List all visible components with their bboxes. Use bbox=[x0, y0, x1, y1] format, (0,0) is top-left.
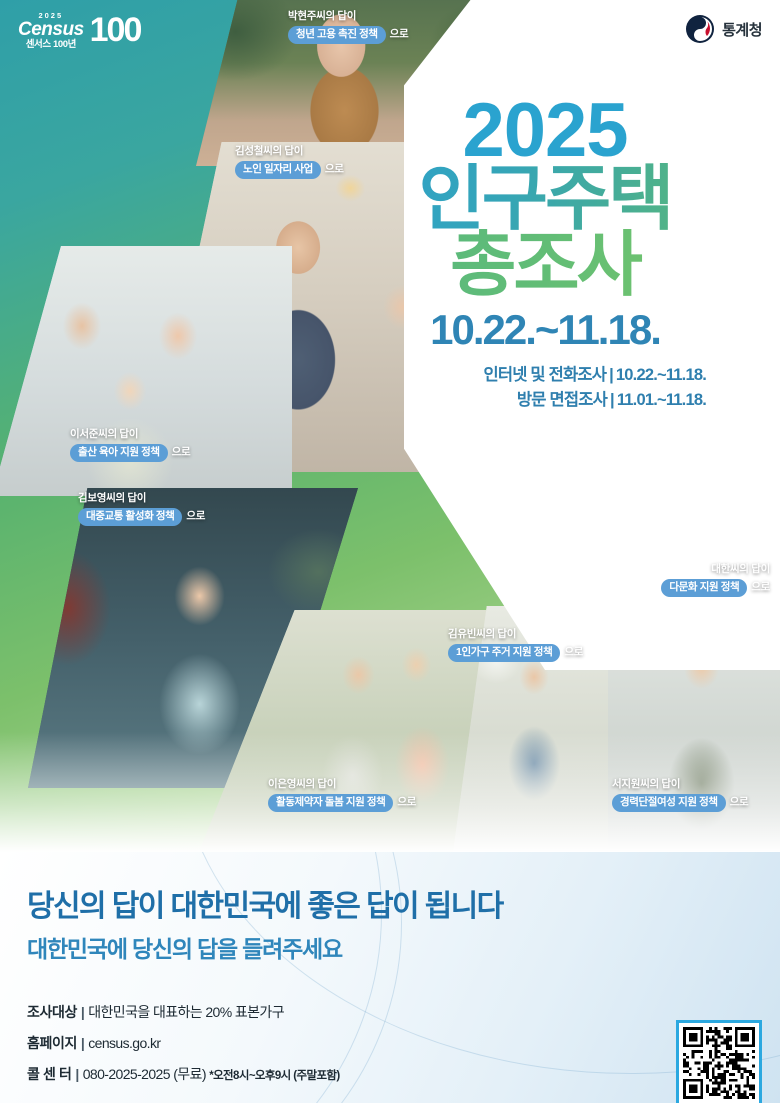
policy-pill: 경력단절여성 지원 정책 bbox=[612, 794, 726, 812]
info-label: 콜 센 터 bbox=[27, 1066, 71, 1082]
info-row-target: 조사대상|대한민국을 대표하는 20% 표본가구 bbox=[27, 1002, 340, 1022]
policy-pill: 청년 고용 촉진 정책 bbox=[288, 26, 386, 44]
policy-suffix: 으로 bbox=[390, 28, 409, 41]
caption-seo-jiwon: 서지원씨의 답이 경력단절여성 지원 정책으로 bbox=[612, 778, 748, 812]
caption-policy-line: 노인 일자리 사업으로 bbox=[235, 161, 344, 179]
info-value-homepage-link[interactable]: census.go.kr bbox=[88, 1035, 160, 1051]
census-logo-word: Census bbox=[18, 20, 84, 39]
method-label: 방문 면접조사 bbox=[517, 391, 607, 409]
caption-policy-line: 활동제약자 돌봄 지원 정책으로 bbox=[268, 794, 416, 812]
caption-kim-sungchul: 김성철씨의 답이 노인 일자리 사업으로 bbox=[235, 145, 344, 179]
caption-kim-yubin: 김유빈씨의 답이 1인가구 주거 지원 정책으로 bbox=[448, 628, 583, 662]
info-label: 홈페이지 bbox=[27, 1035, 77, 1051]
info-row-homepage: 홈페이지|census.go.kr bbox=[27, 1033, 340, 1053]
policy-suffix: 으로 bbox=[751, 581, 770, 594]
poster-title-block: 2025 인구주택 총조사 10.22.~11.18. 인터넷 및 전화조사|1… bbox=[380, 95, 710, 413]
title-date-range: 10.22.~11.18. bbox=[380, 309, 710, 351]
survey-method-row: 방문 면접조사|11.01.~11.18. bbox=[380, 388, 706, 413]
census-100-icon: 100 bbox=[90, 16, 141, 45]
policy-pill: 1인가구 주거 지원 정책 bbox=[448, 644, 560, 662]
slogan-secondary: 대한민국에 당신의 답을 들려주세요 bbox=[27, 930, 342, 964]
info-separator: | bbox=[71, 1066, 82, 1082]
caption-person-name: 이은영씨의 답이 bbox=[268, 778, 416, 791]
info-row-callcenter: 콜 센 터|080-2025-2025 (무료) *오전8시~오후9시 (주말포… bbox=[27, 1064, 340, 1084]
method-period: 11.01.~11.18. bbox=[617, 391, 706, 409]
policy-suffix: 으로 bbox=[172, 446, 191, 459]
qr-code[interactable] bbox=[676, 1020, 762, 1103]
qr-code-canvas bbox=[683, 1027, 755, 1099]
policy-pill: 다문화 지원 정책 bbox=[661, 579, 747, 597]
info-separator: | bbox=[77, 1004, 88, 1020]
caption-person-name: 김유빈씨의 답이 bbox=[448, 628, 583, 641]
census-poster: 박현주씨의 답이 청년 고용 촉진 정책으로 김성철씨의 답이 노인 일자리 사… bbox=[0, 0, 780, 1103]
caption-person-name: 박현주씨의 답이 bbox=[288, 10, 408, 23]
method-separator: | bbox=[606, 366, 616, 384]
policy-pill: 대중교통 활성화 정책 bbox=[78, 508, 182, 526]
policy-pill: 활동제약자 돌봄 지원 정책 bbox=[268, 794, 393, 812]
caption-daehan: 대한씨의 답이 다문화 지원 정책으로 bbox=[661, 563, 770, 597]
slogan-primary: 당신의 답이 대한민국에 좋은 답이 됩니다 bbox=[27, 881, 503, 925]
caption-person-name: 이서준씨의 답이 bbox=[70, 428, 190, 441]
method-label: 인터넷 및 전화조사 bbox=[483, 366, 606, 384]
policy-suffix: 으로 bbox=[325, 163, 344, 176]
policy-suffix: 으로 bbox=[730, 796, 749, 809]
survey-method-row: 인터넷 및 전화조사|10.22.~11.18. bbox=[380, 363, 706, 388]
statistics-korea-logo: 통계청 bbox=[685, 14, 762, 44]
caption-policy-line: 다문화 지원 정책으로 bbox=[661, 579, 770, 597]
caption-kim-boyoung: 김보영씨의 답이 대중교통 활성화 정책으로 bbox=[78, 492, 205, 526]
census-100-logo: 2025 Census 센서스 100년 100 bbox=[18, 12, 140, 49]
caption-policy-line: 경력단절여성 지원 정책으로 bbox=[612, 794, 748, 812]
agency-name: 통계청 bbox=[722, 19, 762, 40]
caption-person-name: 대한씨의 답이 bbox=[661, 563, 770, 576]
census-logo-korean: 센서스 100년 bbox=[26, 40, 76, 50]
info-label: 조사대상 bbox=[27, 1004, 77, 1020]
photo-collage: 박현주씨의 답이 청년 고용 촉진 정책으로 김성철씨의 답이 노인 일자리 사… bbox=[0, 0, 780, 852]
survey-methods: 인터넷 및 전화조사|10.22.~11.18. 방문 면접조사|11.01.~… bbox=[380, 363, 710, 413]
policy-pill: 노인 일자리 사업 bbox=[235, 161, 321, 179]
method-period: 10.22.~11.18. bbox=[616, 366, 706, 384]
policy-suffix: 으로 bbox=[564, 646, 583, 659]
caption-lee-seojun: 이서준씨의 답이 출산 육아 지원 정책으로 bbox=[70, 428, 190, 462]
caption-policy-line: 대중교통 활성화 정책으로 bbox=[78, 508, 205, 526]
info-value-phone[interactable]: 080-2025-2025 (무료) bbox=[83, 1066, 206, 1082]
info-hours-note: *오전8시~오후9시 (주말포함) bbox=[209, 1070, 339, 1082]
caption-person-name: 김보영씨의 답이 bbox=[78, 492, 205, 505]
info-list: 조사대상|대한민국을 대표하는 20% 표본가구 홈페이지|census.go.… bbox=[27, 1002, 340, 1095]
policy-suffix: 으로 bbox=[186, 510, 205, 523]
caption-lee-eunyoung: 이은영씨의 답이 활동제약자 돌봄 지원 정책으로 bbox=[268, 778, 416, 812]
caption-policy-line: 1인가구 주거 지원 정책으로 bbox=[448, 644, 583, 662]
info-value: 대한민국을 대표하는 20% 표본가구 bbox=[88, 1004, 284, 1020]
info-separator: | bbox=[77, 1035, 88, 1051]
caption-person-name: 김성철씨의 답이 bbox=[235, 145, 344, 158]
caption-person-name: 서지원씨의 답이 bbox=[612, 778, 748, 791]
title-line2: 총조사 bbox=[380, 229, 710, 301]
title-year: 2025 bbox=[380, 95, 710, 167]
policy-suffix: 으로 bbox=[397, 796, 416, 809]
method-separator: | bbox=[607, 391, 617, 409]
caption-policy-line: 청년 고용 촉진 정책으로 bbox=[288, 26, 408, 44]
policy-pill: 출산 육아 지원 정책 bbox=[70, 444, 168, 462]
poster-footer: 당신의 답이 대한민국에 좋은 답이 됩니다 대한민국에 당신의 답을 들려주세… bbox=[0, 852, 780, 1103]
taegeuk-icon bbox=[685, 14, 715, 44]
caption-policy-line: 출산 육아 지원 정책으로 bbox=[70, 444, 190, 462]
caption-park-hyunju: 박현주씨의 답이 청년 고용 촉진 정책으로 bbox=[288, 10, 408, 44]
